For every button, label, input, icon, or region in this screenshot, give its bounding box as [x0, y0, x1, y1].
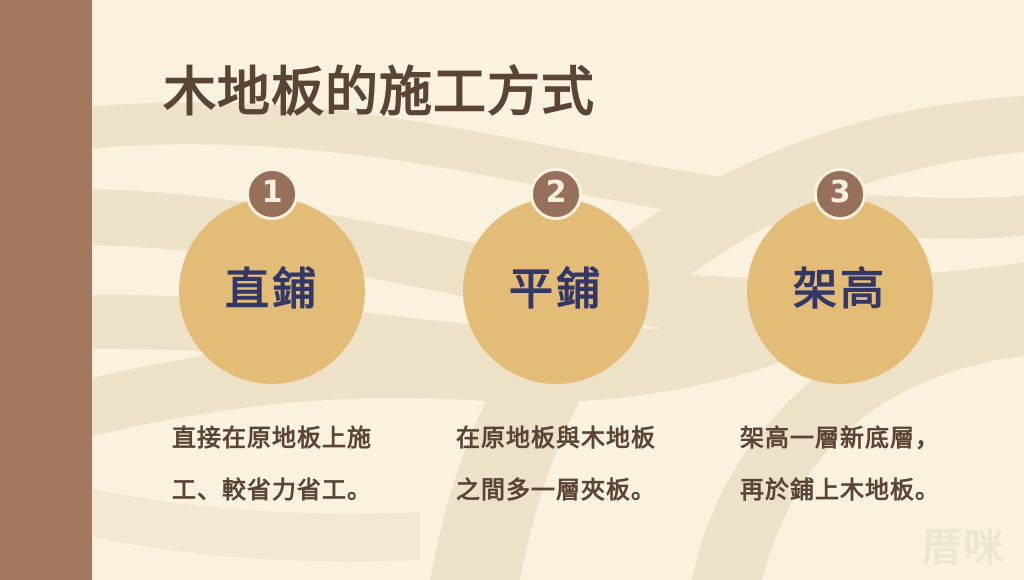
step-badge-3: 3	[814, 168, 866, 220]
step-badge-number-2: 2	[546, 178, 567, 208]
step-badge-number-1: 1	[262, 178, 283, 208]
step-description-2-line-2: 之間多一層夾板。	[413, 464, 699, 516]
step-description-1-line-1: 直接在原地板上施	[129, 412, 415, 464]
step-circle-wrap-1: 1 直鋪	[179, 198, 365, 384]
step-circle-3[interactable]: 架高	[747, 198, 933, 384]
step-circle-1[interactable]: 直鋪	[179, 198, 365, 384]
step-description-3-line-2: 再於鋪上木地板。	[697, 464, 983, 516]
step-badge-1: 1	[246, 168, 298, 220]
page-title: 木地板的施工方式	[163, 62, 595, 124]
step-circle-2[interactable]: 平鋪	[463, 198, 649, 384]
step-description-3: 架高一層新底層， 再於鋪上木地板。	[697, 412, 983, 516]
step-description-1-line-2: 工、較省力省工。	[129, 464, 415, 516]
step-description-1: 直接在原地板上施 工、較省力省工。	[129, 412, 415, 516]
step-badge-number-3: 3	[830, 178, 851, 208]
step-circle-wrap-3: 3 架高	[747, 198, 933, 384]
step-label-1: 直鋪	[225, 268, 319, 312]
left-accent-strip	[0, 0, 92, 580]
step-description-2: 在原地板與木地板 之間多一層夾板。	[413, 412, 699, 516]
step-description-3-line-1: 架高一層新底層，	[697, 412, 983, 464]
step-badge-2: 2	[530, 168, 582, 220]
step-card-3[interactable]: 3 架高	[697, 168, 983, 384]
step-card-2[interactable]: 2 平鋪	[413, 168, 699, 384]
step-card-1[interactable]: 1 直鋪	[129, 168, 415, 384]
step-description-2-line-1: 在原地板與木地板	[413, 412, 699, 464]
step-label-3: 架高	[793, 268, 887, 312]
slide-canvas: 木地板的施工方式 1 直鋪 2 平鋪 3 架高	[0, 0, 1024, 580]
brand-watermark: 厝咪	[922, 528, 1006, 568]
step-label-2: 平鋪	[509, 268, 603, 312]
step-circle-wrap-2: 2 平鋪	[463, 198, 649, 384]
